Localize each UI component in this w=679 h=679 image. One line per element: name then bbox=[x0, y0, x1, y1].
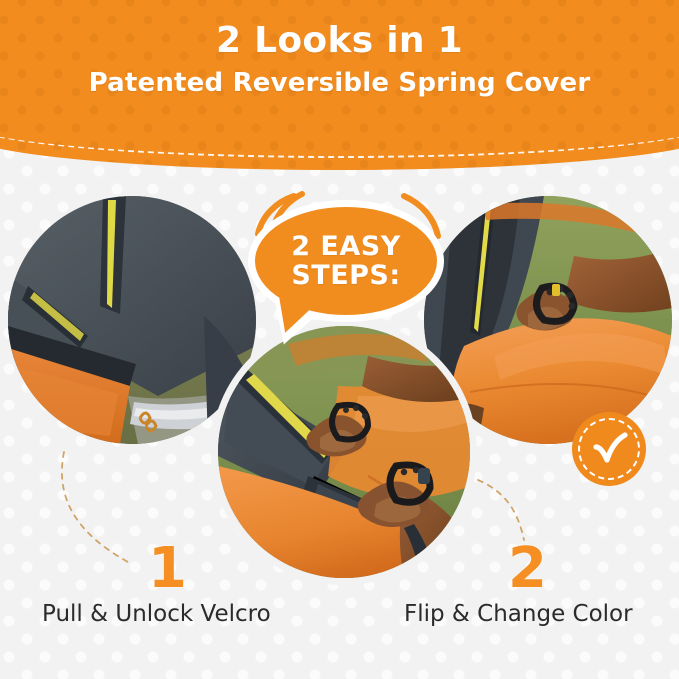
step-number-2: 2 bbox=[508, 541, 547, 597]
infographic-canvas: 2 Looks in 1 Patented Reversible Spring … bbox=[0, 0, 679, 679]
bubble-line-1: 2 EASY bbox=[291, 232, 401, 261]
step-caption-2: Flip & Change Color bbox=[404, 601, 633, 627]
step-caption-1: Pull & Unlock Velcro bbox=[42, 601, 271, 627]
bubble-line-2: STEPS: bbox=[291, 261, 400, 290]
bubble-text: 2 EASY STEPS: bbox=[248, 200, 444, 322]
header-text-block: 2 Looks in 1 Patented Reversible Spring … bbox=[0, 22, 679, 98]
step-process-photo-center bbox=[218, 326, 470, 578]
page-subtitle: Patented Reversible Spring Cover bbox=[0, 68, 679, 98]
step-number-1: 1 bbox=[148, 541, 187, 597]
speech-bubble: 2 EASY STEPS: bbox=[232, 190, 462, 350]
check-badge bbox=[572, 412, 646, 486]
step-1-photo-before bbox=[8, 196, 256, 444]
page-title: 2 Looks in 1 bbox=[0, 22, 679, 60]
check-icon bbox=[587, 427, 631, 471]
